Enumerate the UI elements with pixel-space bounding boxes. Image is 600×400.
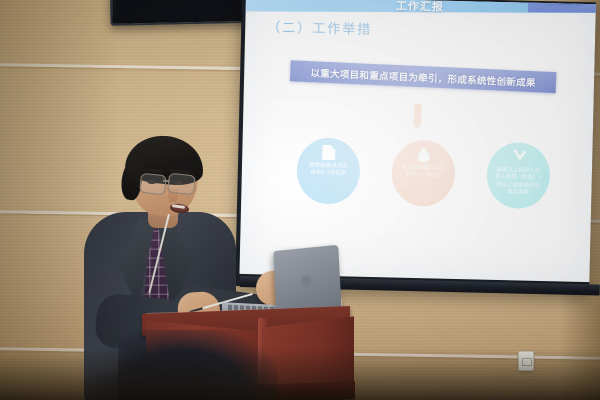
circle-3-line-3: 项以上国家级科研 [496,182,540,189]
slide-banner: 以重大项目和重点项目为牵引，形成系统性创新成果 [290,60,557,93]
floor-shadow [0,348,600,400]
apple-logo-icon [302,276,311,286]
down-arrow-icon [411,104,425,130]
droplet-icon [417,147,430,162]
circle-2-line-2: 每年1-2项在研 [405,172,441,179]
slide-header-title: 工作汇报 [396,0,444,15]
speaker-nose [168,186,178,202]
circle-3-line-2: 每人承担（参加）1 [495,174,542,182]
check-icon [512,149,525,164]
laptop-lid [273,245,341,315]
slide-section-heading: （二）工作举措 [267,17,372,38]
circle-3-line-4: 项目课题 [507,189,529,196]
document-icon [322,145,335,160]
eyeglasses-lens-left [139,173,167,196]
slide-circle-3: 副高以上科研人员 每人承担（参加）1 项以上国家级科研 项目课题 [486,142,551,209]
slide-banner-text: 以重大项目和重点项目为牵引，形成系统性创新成果 [310,65,536,89]
presentation-photo: 工作汇报 ISESS （二）工作举措 以重大项目和重点项目为牵引，形成系统性创新… [0,0,600,400]
slide-circle-2: 参加国家重大项目 每年1-2项在研 [391,139,456,206]
